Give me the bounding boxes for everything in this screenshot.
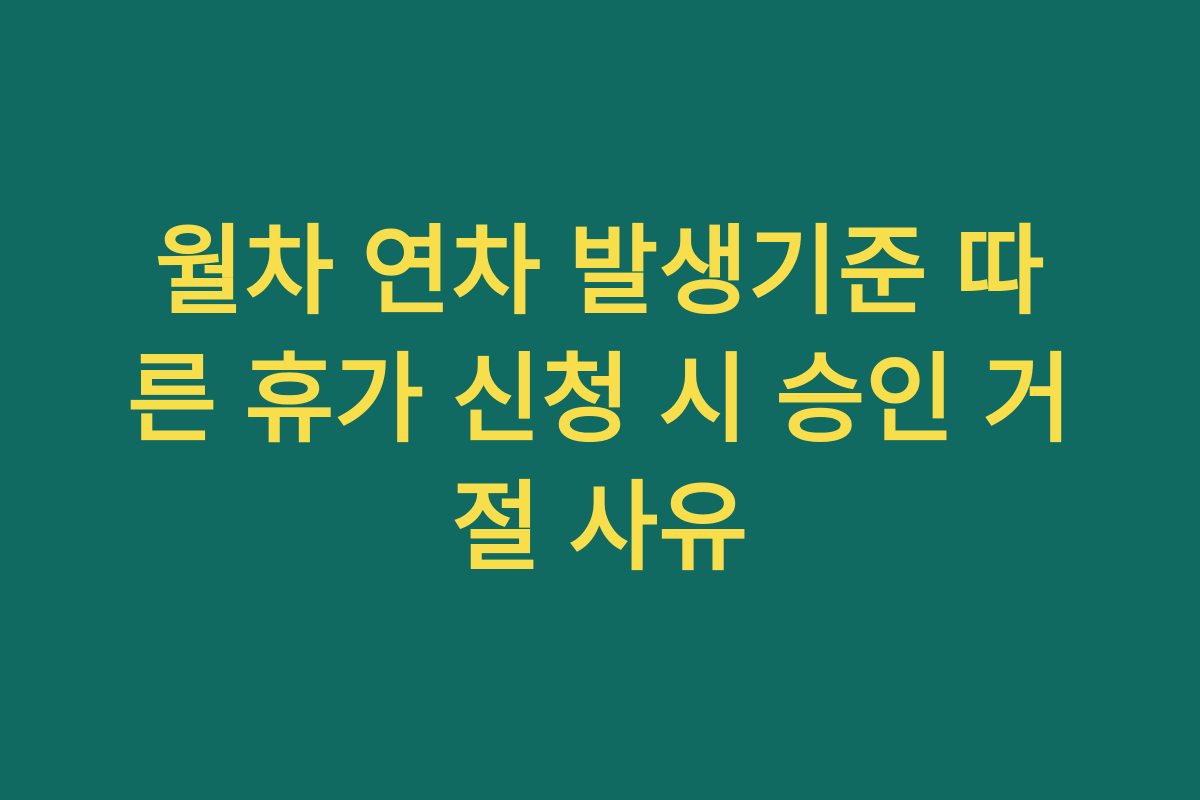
- page-title: 월차 연차 발생기준 따 른 휴가 신청 시 승인 거 절 사유: [120, 208, 1080, 592]
- banner-canvas: 월차 연차 발생기준 따 른 휴가 신청 시 승인 거 절 사유: [0, 0, 1200, 800]
